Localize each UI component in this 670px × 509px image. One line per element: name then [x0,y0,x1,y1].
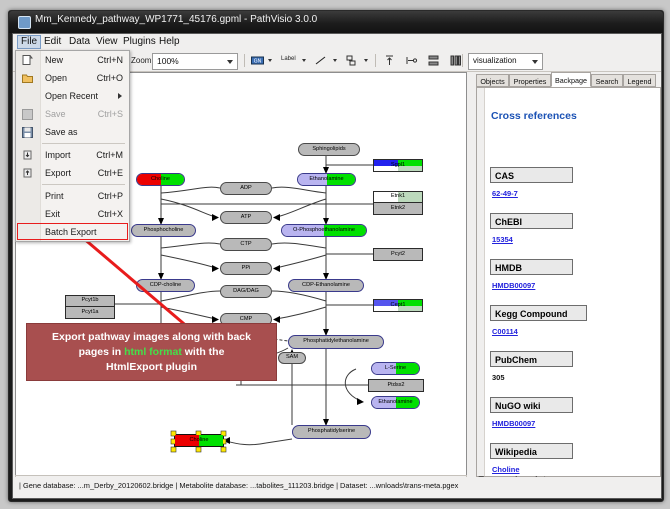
xref-label-wikipedia: Wikipedia [490,443,573,459]
node-cdp-ethanolamine[interactable]: CDP-Ethanolamine [288,279,364,292]
status-text: | Gene database: ...m_Derby_20120602.bri… [19,481,458,490]
node-ethanolamine-right[interactable]: Ethanolamine [371,396,420,409]
status-bar: | Gene database: ...m_Derby_20120602.bri… [15,477,659,495]
xref-value-nugo[interactable]: HMDB00097 [492,419,535,428]
tab-backpage[interactable]: Backpage [551,72,591,87]
client-area: File Edit Data View Plugins Help Zoom: 1… [12,33,662,499]
zoom-label: Zoom: [131,56,154,65]
xref-value-cas[interactable]: 62-49-7 [492,189,518,198]
file-menu-item-exit[interactable]: Exit Ctrl+X [16,205,129,223]
annotation-line2-a: pages in [79,346,125,358]
folder-open-icon [22,73,33,84]
node-choline-top[interactable]: Choline [136,173,185,186]
line-icon[interactable] [313,53,328,68]
datanode-dropdown-icon[interactable] [268,59,272,62]
submenu-arrow-icon [118,93,122,99]
cross-references-heading: Cross references [491,110,577,122]
new-file-icon [22,55,33,66]
file-menu-label: Batch Export [45,227,97,237]
xref-label-kegg: Kegg Compound [490,305,587,321]
menu-view[interactable]: View [92,35,122,49]
file-menu-accel: Ctrl+M [96,150,123,160]
menu-separator-2 [42,184,125,185]
visualization-value: visualization [473,56,517,65]
xref-label-pubchem: PubChem [490,351,573,367]
xref-value-hmdb[interactable]: HMDB00097 [492,281,535,290]
file-menu-item-print[interactable]: Print Ctrl+P [16,187,129,205]
file-menu-item-save: Save Ctrl+S [16,105,129,123]
menu-data[interactable]: Data [65,35,94,49]
backpage-content[interactable]: Cross references CAS 62-49-7 ChEBI 15354… [476,87,661,477]
node-o-phosphoethanolamine[interactable]: O-Phosphoethanolamine [281,224,367,237]
panel-scrollbar[interactable] [477,88,485,476]
visualization-combo[interactable]: visualization [468,53,543,70]
window-title: Mm_Kennedy_pathway_WP1771_45176.gpml - P… [35,14,317,25]
node-phosphatidylethanolamine[interactable]: Phosphatidylethanolamine [288,335,384,349]
file-menu-item-save-as[interactable]: Save as [16,123,129,141]
file-menu-item-import[interactable]: Import Ctrl+M [16,146,129,164]
datanode-icon[interactable]: GN [250,53,265,68]
screenshot-root: Mm_Kennedy_pathway_WP1771_45176.gpml - P… [0,0,670,509]
node-ethanolamine-top[interactable]: Ethanolamine [297,173,356,186]
xref-label-chebi: ChEBI [490,213,573,229]
zoom-value: 100% [157,56,179,66]
side-panel: Objects Properties Backpage Search Legen… [468,72,659,475]
gene-etnk1[interactable]: Etnk1 [373,191,423,203]
chevron-down-icon [227,60,233,64]
align-left-icon[interactable] [404,53,419,68]
panel-tabstrip: Objects Properties Backpage Search Legen… [476,72,659,87]
file-menu-accel: Ctrl+O [97,73,123,83]
xref-label-nugo: NuGO wiki [490,397,573,413]
label-button[interactable]: Label [281,56,296,62]
node-sphingolipids[interactable]: Sphingolipids [298,143,360,156]
file-menu-accel: Ctrl+E [98,168,123,178]
file-menu-accel: Ctrl+P [98,191,123,201]
xref-value-chebi[interactable]: 15354 [492,235,513,244]
tab-search[interactable]: Search [591,74,623,87]
tab-legend[interactable]: Legend [623,74,656,87]
shape-icon[interactable] [344,53,359,68]
save-icon [22,109,33,120]
chevron-down-icon-2 [532,60,538,64]
application-window: Mm_Kennedy_pathway_WP1771_45176.gpml - P… [8,10,664,502]
node-phosphatidylserine[interactable]: Phosphatidylserine [292,425,371,439]
annotation-line2-b: with the [182,346,225,358]
file-menu-item-open-recent[interactable]: Open Recent [16,87,129,105]
file-menu-popup[interactable]: New Ctrl+N Open Ctrl+O Open Recent Save … [15,50,130,242]
node-l-serine[interactable]: L-Serine [371,362,420,375]
file-menu-label: New [45,55,63,65]
node-choline-selected[interactable]: Choline [174,434,224,447]
xref-value-kegg[interactable]: C00114 [492,327,518,336]
gene-sgpl1[interactable]: Sgpl1 [373,159,423,172]
zoom-combo[interactable]: 100% [152,53,238,70]
xref-value-pubchem: 305 [492,373,505,382]
file-menu-label: Open Recent [45,91,98,101]
stack-horizontal-icon[interactable] [426,53,441,68]
xref-value-wikipedia[interactable]: Choline [492,465,520,474]
menu-help[interactable]: Help [155,35,184,49]
annotation-box: Export pathway images along with back pa… [26,323,277,381]
tab-properties[interactable]: Properties [509,74,551,87]
export-icon [22,168,33,179]
import-icon [22,150,33,161]
file-menu-label: Import [45,150,71,160]
file-menu-accel: Ctrl+X [98,209,123,219]
stack-vertical-icon[interactable] [448,53,463,68]
file-menu-item-open[interactable]: Open Ctrl+O [16,69,129,87]
title-bar[interactable]: Mm_Kennedy_pathway_WP1771_45176.gpml - P… [9,11,663,33]
xref-label-hmdb: HMDB [490,259,573,275]
file-menu-label: Print [45,191,64,201]
gene-pcyt2[interactable]: Pcyt2 [373,248,423,261]
file-menu-label: Export [45,168,71,178]
menu-file[interactable]: File [17,35,41,49]
menu-plugins[interactable]: Plugins [119,35,160,49]
app-icon [18,16,31,29]
xref-label-cas: CAS [490,167,573,183]
gene-cept1[interactable]: Cept1 [373,299,423,312]
save-as-icon [22,127,33,138]
file-menu-item-new[interactable]: New Ctrl+N [16,51,129,69]
file-menu-label: Save [45,109,66,119]
file-menu-item-batch-export[interactable]: Batch Export [16,223,129,241]
annotation-text: Export pathway images along with back pa… [46,330,257,375]
node-adp[interactable]: ADP [220,182,272,195]
annotation-line3: HtmlExport plugin [106,361,197,373]
gene-etnk2[interactable]: Etnk2 [373,203,423,215]
align-top-icon[interactable] [382,53,397,68]
menu-separator [42,143,125,144]
file-menu-accel: Ctrl+N [97,55,123,65]
annotation-highlight: html format [124,346,182,358]
svg-text:GN: GN [254,59,262,65]
menu-bar: File Edit Data View Plugins Help [13,34,661,51]
line-dropdown-icon[interactable] [333,59,337,62]
shape-dropdown-icon[interactable] [364,59,368,62]
label-dropdown-icon[interactable] [302,59,306,62]
node-sam[interactable]: SAM [278,352,306,364]
file-menu-accel: Ctrl+S [98,109,123,119]
menu-edit[interactable]: Edit [40,35,65,49]
file-menu-label: Save as [45,127,78,137]
file-menu-item-export[interactable]: Export Ctrl+E [16,164,129,182]
gene-ptdss2[interactable]: Ptdss2 [368,379,424,392]
annotation-line1: Export pathway images along with back [52,331,251,343]
tab-objects[interactable]: Objects [476,74,509,87]
file-menu-label: Exit [45,209,60,219]
file-menu-label: Open [45,73,67,83]
